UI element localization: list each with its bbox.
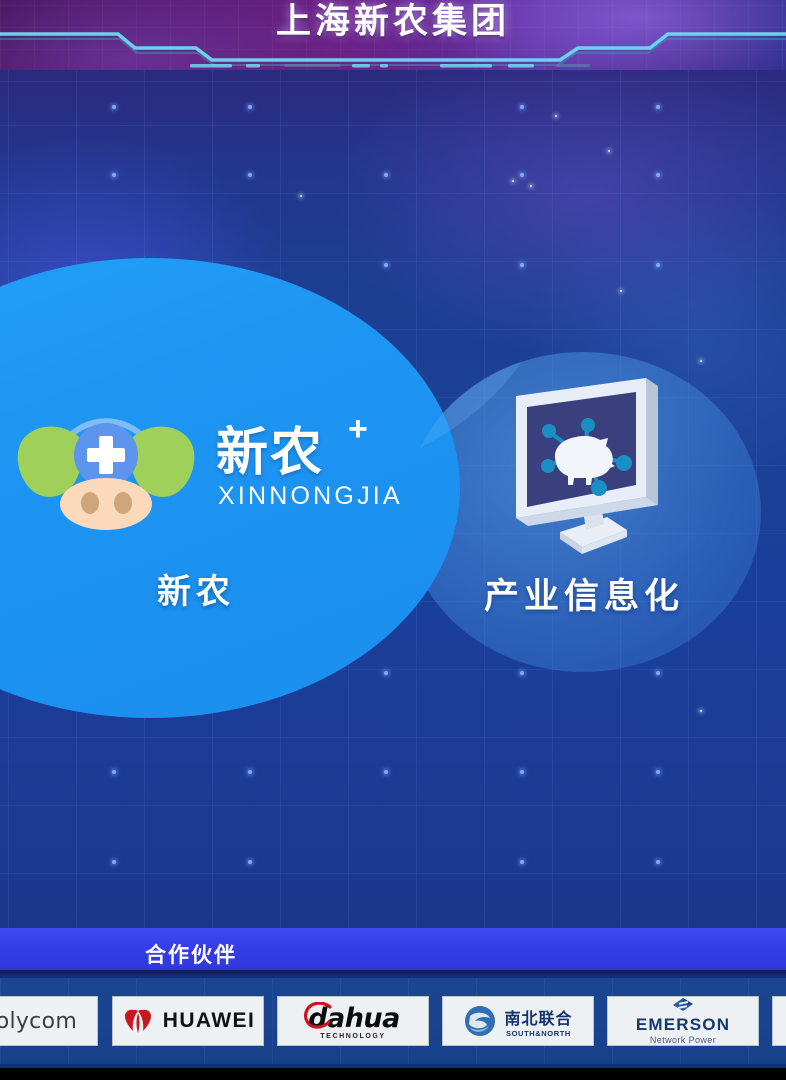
partner-logo-strip[interactable]: Polycom HUAWEI [0, 978, 786, 1064]
brand-plus-mark: + [348, 410, 368, 449]
partners-title: 合作伙伴 [145, 939, 237, 969]
panel-label-industry: 产业信息化 [408, 568, 760, 619]
panel-label-xinnong: 新农 [0, 564, 392, 613]
partner-logo-huawei[interactable]: HUAWEI [112, 996, 264, 1046]
footer: 合作伙伴 Polycom HUAWEI [0, 928, 786, 1080]
emerson-diamond-icon [673, 998, 693, 1014]
south-north-wordmark-en: SOUTH&NORTH [506, 1029, 571, 1038]
south-north-wordmark-cn: 南北联合 [504, 1005, 572, 1029]
partner-logo-globe[interactable] [772, 996, 786, 1046]
partner-logo-south-north[interactable]: 南北联合 SOUTH&NORTH [442, 996, 594, 1046]
partner-logo-dahua[interactable]: dahua TECHNOLOGY [277, 996, 429, 1046]
bottom-letterbox [0, 1068, 786, 1080]
huawei-petal-icon [121, 1006, 155, 1036]
dahua-subtext: TECHNOLOGY [320, 1033, 385, 1040]
emerson-wordmark: EMERSON [636, 1015, 730, 1035]
polycom-wordmark: Polycom [0, 1009, 77, 1034]
emerson-subtext: Network Power [650, 1035, 716, 1045]
pig-plus-leaf-logo [8, 400, 204, 530]
partner-logo-emerson[interactable]: EMERSON Network Power [607, 996, 759, 1046]
partners-bar: 合作伙伴 [0, 928, 786, 974]
page-header: 上海新农集团 [0, 0, 786, 72]
page-title: 上海新农集团 [0, 0, 786, 44]
xinnongjia-brand-lockup: 新农 + XINNONGJIA [8, 392, 398, 542]
brand-name-en: XINNONGJIA [218, 482, 403, 511]
dashboard-screen: 上海新农集团 [0, 0, 786, 1080]
huawei-wordmark: HUAWEI [163, 1009, 255, 1033]
partner-logo-polycom[interactable]: Polycom [0, 996, 98, 1046]
monitor-pig-network-icon [494, 378, 684, 563]
south-north-globe-icon [463, 1004, 497, 1038]
brand-name-cn: 新农 [216, 410, 324, 485]
dahua-swoosh-icon [303, 1002, 333, 1030]
